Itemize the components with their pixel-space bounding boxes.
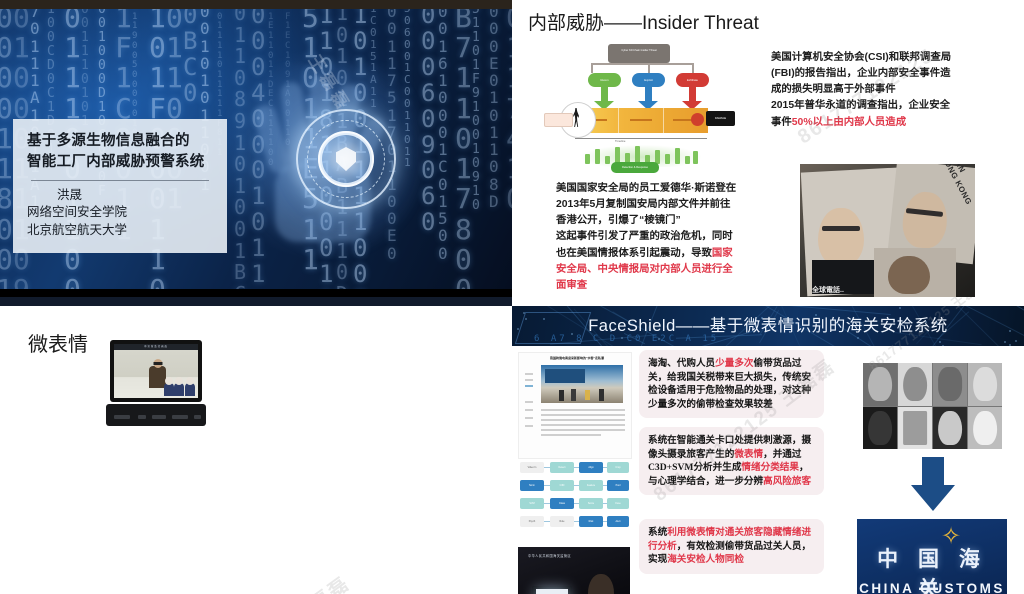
method-card: 系统在智能通关卡口处提供刺激源，摄像头摄录旅客产生的微表情，并通过C3D+SVM…	[639, 427, 824, 495]
interrogation-room	[114, 350, 198, 398]
stage-blue-label: Exploit	[632, 73, 665, 87]
binary-column: 0 B C 0	[183, 9, 197, 107]
insider-stats-text: 美国计算机安全协会(CSI)和联邦调查局 (FBI)的报告指出，企业内部安全事件…	[771, 50, 1001, 131]
news-photo	[541, 365, 623, 403]
slide-heading: 内部威胁——Insider Threat	[528, 8, 759, 35]
method-highlight-3: 高风险旅客	[763, 476, 811, 487]
timeline-axis	[575, 138, 707, 139]
snowden-line-1: 美国国家安全局的员工爱德华·斯诺登在	[556, 181, 768, 197]
stats-line-1: 美国计算机安全协会(CSI)和联邦调查局	[771, 50, 1001, 66]
binary-column: 0 0 0 0 1 1 8 0 0 1 1 0 0 0 D A	[0, 9, 13, 289]
affiliation-line-1: 网络空间安全学院	[27, 204, 213, 221]
slide-title-page[interactable]: 0 0 0 0 1 1 8 0 0 1 1 0 0 0 D A 0 1 0 0 …	[0, 0, 512, 297]
defense-label: Detection & Response	[611, 162, 659, 173]
snowden-line-6: 安全局、中央情报局对内部人员进行全	[556, 262, 768, 278]
damage-box: DAMAGE	[706, 111, 735, 126]
defense-box: Detection & Response	[611, 162, 659, 173]
officer-figure-1	[164, 383, 174, 396]
source-box	[544, 113, 573, 127]
stats-line-5-prefix: 事件	[771, 117, 792, 128]
snowden-line-5-prefix: 也在美国情报体系引起震动，导致	[556, 248, 712, 259]
snowden-line-7: 面审查	[556, 278, 768, 294]
binary-column: 0 0 1 6 1 0 0 0 1 C 0 1 5 0 0	[438, 9, 448, 262]
stage-green-label: Recon	[588, 73, 621, 87]
affiliation-line-2: 北京航空航天大学	[27, 222, 213, 239]
top-letterbox-bar	[0, 0, 512, 9]
stage-red: Exfiltrate	[676, 73, 709, 87]
slide-heading: FaceShield——基于微表情识别的海关安检系统	[512, 306, 1024, 346]
snowden-line-3: 香港公开，引爆了“棱镜门”	[556, 213, 768, 229]
title-line-1: 基于多源生物信息融合的	[27, 131, 213, 152]
author-name: 洪晟	[27, 187, 213, 204]
grid-cell	[898, 407, 932, 450]
title-line-2: 智能工厂内部威胁预警系统	[27, 152, 213, 173]
binary-column: 5 1 1 0 1 F 9 1 0 0 1 0 9 1 0	[472, 9, 480, 213]
title-card: 基于多源生物信息融合的 智能工厂内部威胁预警系统 洪晟 网络空间安全学院 北京航…	[13, 119, 227, 253]
laptop-screen: 审讯室监控画面	[114, 344, 198, 398]
down-arrow-icon	[911, 457, 955, 511]
china-customs-sign: ✧ 中 国 海 关 CHINA CUSTOMS	[857, 519, 1007, 594]
result-highlight-2: 海关安检人物同检	[667, 554, 744, 565]
snowden-line-4: 这起事件引发了严重的政治危机，同时	[556, 229, 768, 245]
problem-plain-1: 海淘、代购人员	[648, 358, 715, 369]
laptop-lid: 审讯室监控画面	[110, 340, 202, 402]
binary-column: 0 0 0 E 0 1 0 1 1 0 8 D	[489, 9, 499, 210]
divider	[31, 180, 209, 181]
result-plain-1: 系统	[648, 527, 667, 538]
slide-top-bar	[0, 297, 512, 306]
grid-cell	[968, 363, 1002, 406]
snowden-photo: WANTED MAN IN HONG KONG 全球電話..	[800, 164, 975, 297]
officer-figure-2	[174, 383, 184, 396]
grid-cell	[933, 407, 967, 450]
result-card: 系统利用微表情对通关旅客隐藏情绪进行分析，有效检测偷带货品过关人员，实现海关安检…	[639, 519, 824, 574]
grid-cell	[863, 407, 897, 450]
damage-label: DAMAGE	[706, 111, 735, 126]
slide-faceshield[interactable]: 6 A7 8 C D C0 E2C A 15 FaceShield——基于微表情…	[512, 297, 1024, 594]
problem-card: 海淘、代购人员少量多次偷带货品过关，给我国关税带来巨大损失，传统安检设备适用于危…	[639, 350, 824, 418]
snowden-line-5-highlight: 国家	[712, 248, 733, 259]
slide-insider-threat[interactable]: 内部威胁——Insider Threat Cyber Kill Chain In…	[512, 0, 1024, 297]
method-highlight-1: 微表情	[734, 449, 763, 460]
lab-photo-caption: 中华人民共和国海关监管区	[528, 553, 571, 558]
binary-column: 0 0 1 1 1 0 1 0 1	[81, 9, 89, 129]
grid-cell	[898, 363, 932, 406]
slide-deck-grid: 0 0 0 0 1 1 8 0 0 1 1 0 0 0 D A 0 1 0 0 …	[0, 0, 1024, 594]
slide-micro-expression[interactable]: 微表情 审讯室监控画面	[0, 297, 512, 594]
grid-cell	[968, 407, 1002, 450]
method-highlight-2: 情绪分类结果	[741, 462, 799, 473]
snowden-text: 美国国家安全局的员工爱德华·斯诺登在 2013年5月复制国安局内部文件并前往 香…	[556, 181, 768, 294]
timeline-label: Timeline	[615, 139, 625, 143]
stage-red-label: Exfiltrate	[676, 73, 709, 87]
bottom-letterbox-bar	[0, 289, 512, 297]
diagram-top-box-label: Cyber Kill Chain Insider Threat	[608, 44, 670, 53]
news-article-clip: 我国跨境电商迎来新影响的“水客”走私潮	[518, 352, 632, 459]
stats-line-3: 成的损失明显高于外部事件	[771, 82, 1001, 98]
stats-line-5-highlight: 50%以上由内部人员造成	[792, 117, 906, 128]
lab-laptop	[532, 586, 572, 594]
laptop-photo: 审讯室监控画面	[106, 340, 206, 426]
lab-photo: 中华人民共和国海关监管区	[518, 547, 630, 594]
slide-heading: 微表情	[28, 328, 88, 357]
problem-highlight-1: 少量多次	[715, 358, 753, 369]
kill-chain-diagram: Cyber Kill Chain Insider Threat Recon Ex…	[545, 42, 735, 170]
stats-line-2: (FBI)的报告指出，企业内部安全事件造	[771, 66, 1001, 82]
watermark: 17712212252 王磊磊	[170, 569, 355, 594]
shield-lock-icon	[318, 131, 374, 187]
stage-green: Recon	[588, 73, 621, 87]
snowden-line-2: 2013年5月复制国安局内部文件并前往	[556, 197, 768, 213]
lab-person	[588, 574, 614, 594]
binary-column: 0 1 1 0 8 9 1 0 1 0 0 1 B C 0	[234, 9, 246, 289]
officer-figure-3	[185, 383, 195, 396]
grid-cell	[933, 363, 967, 406]
grid-cell	[863, 363, 897, 406]
system-flowchart: Video In Detect Align Crop Norm C3D Feat…	[518, 460, 630, 540]
face-analysis-grid	[863, 363, 1002, 449]
stats-line-4: 2015年普华永道的调查指出，企业安全	[771, 98, 1001, 114]
stage-blue: Exploit	[632, 73, 665, 87]
customs-sign-en: CHINA CUSTOMS	[857, 581, 1007, 594]
diagram-top-box: Cyber Kill Chain Insider Threat	[608, 44, 670, 63]
news-headline: 我国跨境电商迎来新影响的“水客”走私潮	[529, 356, 625, 360]
binary-column: B 7 1 1 0 1 7 8 0 0 1 1 0	[455, 9, 472, 289]
laptop-base	[106, 404, 206, 426]
photo-caption-cn: 全球電話..	[812, 285, 844, 295]
